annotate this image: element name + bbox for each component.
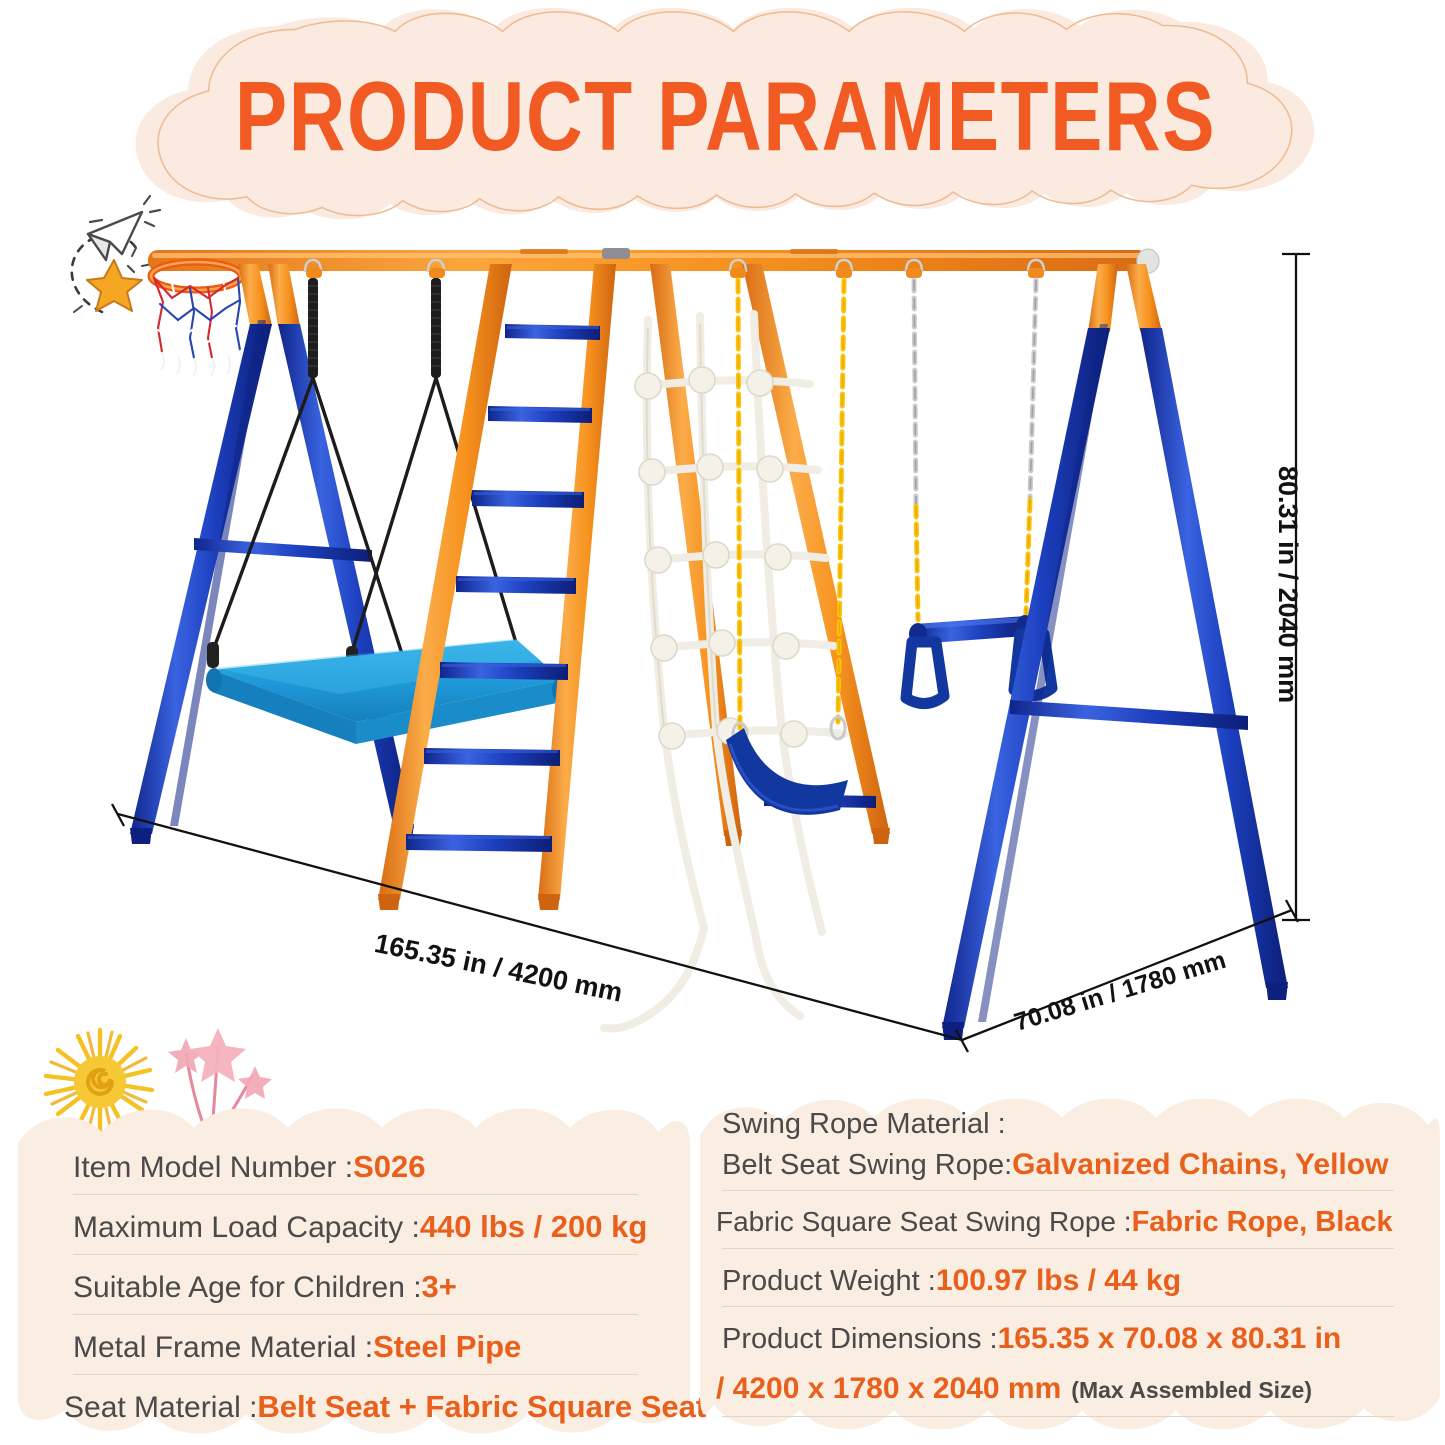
spec-note-max-assembled-size: (Max Assembled Size) — [1071, 1378, 1312, 1404]
right-a-frame — [942, 264, 1288, 1040]
spec-value-belt-seat-rope: Galvanized Chains, Yellow — [1012, 1148, 1388, 1182]
spec-value-frame: Steel Pipe — [373, 1330, 521, 1365]
spec-label-swing-rope-material: Swing Rope Material : — [722, 1108, 1006, 1140]
spec-separator — [722, 1306, 1394, 1307]
spec-row-weight: Product Weight : 100.97 lbs / 44 kg — [722, 1264, 1445, 1298]
spec-row-frame: Metal Frame Material : Steel Pipe — [73, 1330, 745, 1365]
spec-label-fabric-seat-rope: Fabric Square Seat Swing Rope : — [716, 1206, 1132, 1237]
spec-heading-swing-rope-material: Swing Rope Material : — [722, 1108, 1445, 1140]
spec-value-weight: 100.97 lbs / 44 kg — [936, 1264, 1181, 1298]
spec-label-frame: Metal Frame Material : — [73, 1331, 373, 1365]
spec-row-belt-seat-rope: Belt Seat Swing Rope: Galvanized Chains,… — [722, 1148, 1445, 1182]
spec-label-seat: Seat Material : — [64, 1391, 257, 1425]
spec-value-model: S026 — [353, 1150, 425, 1185]
spec-separator — [722, 1416, 1394, 1417]
dimension-height-label: 80.31 in / 2040 mm — [1272, 466, 1303, 703]
spec-separator — [722, 1190, 1394, 1191]
spec-separator — [73, 1374, 638, 1375]
specs-panel-right: Swing Rope Material : Belt Seat Swing Ro… — [700, 1090, 1440, 1445]
spec-value-dimensions-mm: / 4200 x 1780 x 2040 mm — [716, 1372, 1061, 1406]
spec-value-dimensions-in: 165.35 x 70.08 x 80.31 in — [998, 1322, 1342, 1356]
ladder-a-frame — [378, 264, 616, 910]
spec-label-load: Maximum Load Capacity : — [73, 1211, 420, 1245]
spec-label-belt-seat-rope: Belt Seat Swing Rope: — [722, 1149, 1012, 1181]
spec-row-dimensions-mm: / 4200 x 1780 x 2040 mm (Max Assembled S… — [716, 1372, 1445, 1406]
specs-right-rows: Swing Rope Material : Belt Seat Swing Ro… — [700, 1090, 1440, 1445]
basketball-hoop — [151, 258, 242, 376]
spec-value-seat: Belt Seat + Fabric Square Seat — [257, 1390, 706, 1425]
page-title: PRODUCT PARAMETERS — [240, 56, 1212, 176]
swing-set-illustration — [0, 228, 1445, 1088]
spec-separator — [73, 1194, 638, 1195]
specs-left-rows: Item Model Number : S026 Maximum Load Ca… — [18, 1098, 690, 1445]
spec-row-fabric-seat-rope: Fabric Square Seat Swing Rope : Fabric R… — [716, 1206, 1445, 1238]
spec-label-weight: Product Weight : — [722, 1265, 936, 1297]
spec-label-age: Suitable Age for Children : — [73, 1271, 422, 1305]
spec-row-seat: Seat Material : Belt Seat + Fabric Squar… — [64, 1390, 736, 1425]
spec-value-load: 440 lbs / 200 kg — [420, 1210, 647, 1245]
spec-separator — [73, 1254, 638, 1255]
spec-separator — [73, 1314, 638, 1315]
spec-value-age: 3+ — [422, 1270, 457, 1305]
spec-label-dimensions: Product Dimensions : — [722, 1323, 998, 1355]
spec-label-model: Item Model Number : — [73, 1151, 353, 1185]
spec-row-dimensions: Product Dimensions : 165.35 x 70.08 x 80… — [722, 1322, 1445, 1356]
spec-value-fabric-seat-rope: Fabric Rope, Black — [1132, 1206, 1393, 1238]
infographic-page: PRODUCT PARAMETERS — [0, 0, 1445, 1445]
spec-row-age: Suitable Age for Children : 3+ — [73, 1270, 745, 1305]
specs-panel-left: Item Model Number : S026 Maximum Load Ca… — [18, 1098, 690, 1445]
spec-row-model: Item Model Number : S026 — [73, 1150, 745, 1185]
spec-separator — [722, 1248, 1394, 1249]
spec-row-load: Maximum Load Capacity : 440 lbs / 200 kg — [73, 1210, 745, 1245]
